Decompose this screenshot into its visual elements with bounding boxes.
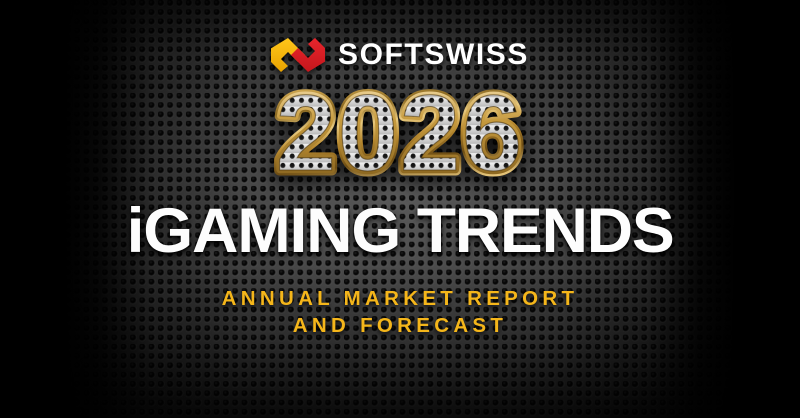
subtitle-line-2: AND FORECAST (222, 312, 579, 339)
brand-lockup: SOFTSWISS (271, 38, 529, 72)
poster-content: SOFTSWISS (0, 0, 800, 418)
brand-wordmark: SOFTSWISS (338, 40, 529, 70)
subtitle-line-1: ANNUAL MARKET REPORT (222, 285, 579, 312)
softswiss-interlocking-chevrons-icon (271, 38, 325, 72)
poster-root: SOFTSWISS (0, 0, 800, 418)
year-headline: 2026 (224, 88, 576, 194)
subtitle: ANNUAL MARKET REPORT AND FORECAST (222, 285, 579, 339)
year-2026-graphic: 2026 (224, 88, 576, 194)
page-title: iGAMING TRENDS (127, 200, 674, 263)
